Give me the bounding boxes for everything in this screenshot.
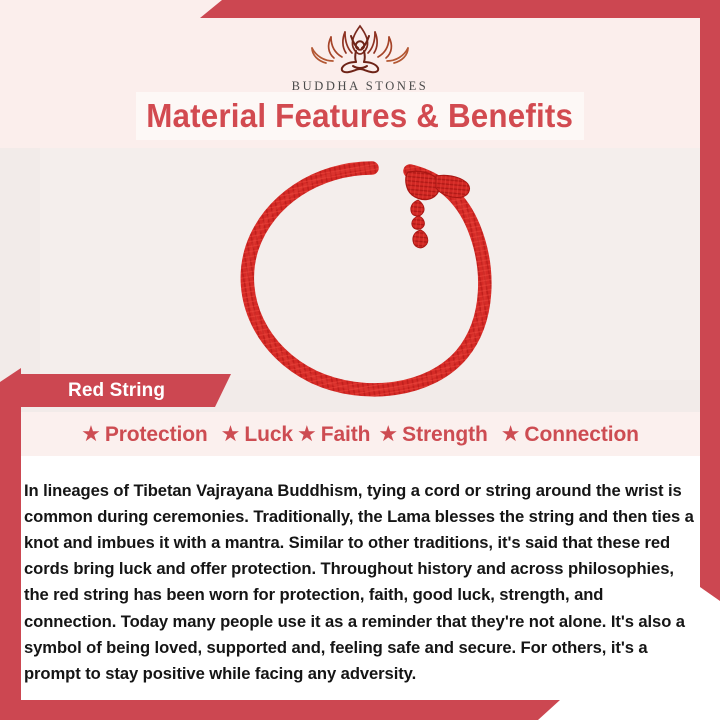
feature-item-protection: ★ Protection (81, 423, 208, 447)
page-title: Material Features & Benefits (147, 97, 574, 135)
decorative-bar-right (700, 9, 720, 601)
product-label-banner: Red String (21, 374, 231, 407)
product-label: Red String (68, 380, 165, 402)
star-icon: ★ (378, 423, 398, 445)
feature-label: Faith (321, 423, 371, 447)
star-icon: ★ (297, 423, 317, 445)
features-list: ★ Protection ★ Luck ★ Faith ★ Strength ★… (0, 419, 720, 451)
decorative-bar-bottom (0, 700, 560, 720)
feature-label: Strength (402, 423, 488, 447)
lotus-meditation-icon (298, 22, 422, 76)
star-icon: ★ (221, 423, 241, 445)
decorative-bar-top (200, 0, 720, 18)
feature-label: Luck (244, 423, 293, 447)
product-image-red-braided-cord-bracelet (222, 156, 512, 401)
feature-label: Protection (105, 423, 208, 447)
star-icon: ★ (81, 423, 101, 445)
star-icon: ★ (501, 423, 521, 445)
product-description: In lineages of Tibetan Vajrayana Buddhis… (24, 478, 696, 688)
infographic-card: BUDDHA STONES Material Features & Benefi… (0, 0, 720, 720)
title-banner: Material Features & Benefits (136, 92, 584, 140)
feature-item-luck: ★ Luck (221, 423, 293, 447)
brand-logo: BUDDHA STONES (0, 22, 720, 94)
feature-item-faith: ★ Faith (297, 423, 370, 447)
feature-label: Connection (524, 423, 639, 447)
feature-item-connection: ★ Connection (501, 423, 639, 447)
feature-item-strength: ★ Strength (378, 423, 487, 447)
